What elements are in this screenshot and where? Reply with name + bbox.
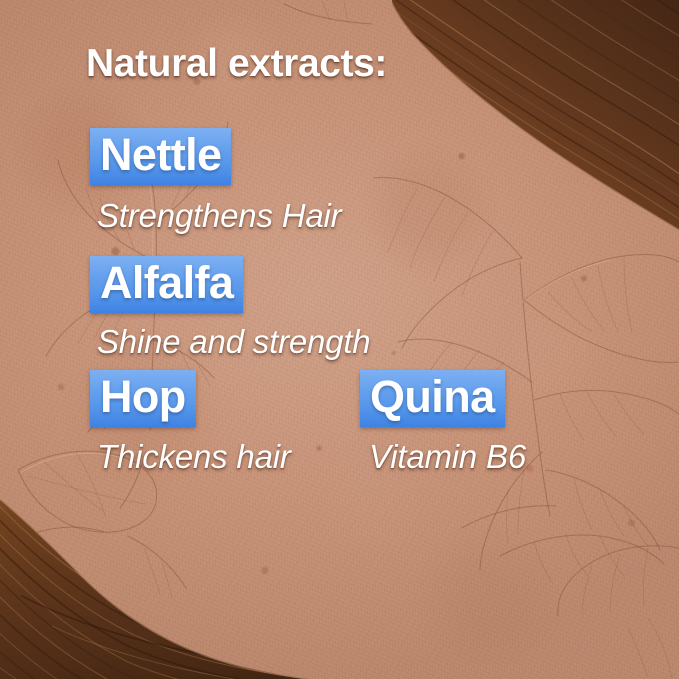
extract-chip-nettle: Nettle bbox=[90, 128, 231, 185]
poster-content: Natural extracts: Nettle Strengthens Hai… bbox=[0, 0, 679, 679]
extract-benefit-nettle: Strengthens Hair bbox=[97, 196, 341, 236]
product-feature-poster: Natural extracts: Nettle Strengthens Hai… bbox=[0, 0, 679, 679]
extract-chip-alfalfa: Alfalfa bbox=[90, 256, 243, 313]
extract-chip-hop: Hop bbox=[90, 370, 196, 427]
extract-benefit-quina: Vitamin B6 bbox=[369, 437, 526, 477]
extract-benefit-alfalfa: Shine and strength bbox=[97, 322, 370, 362]
extract-chip-quina: Quina bbox=[360, 370, 505, 427]
extract-benefit-hop: Thickens hair bbox=[97, 437, 347, 477]
page-title: Natural extracts: bbox=[86, 42, 387, 86]
